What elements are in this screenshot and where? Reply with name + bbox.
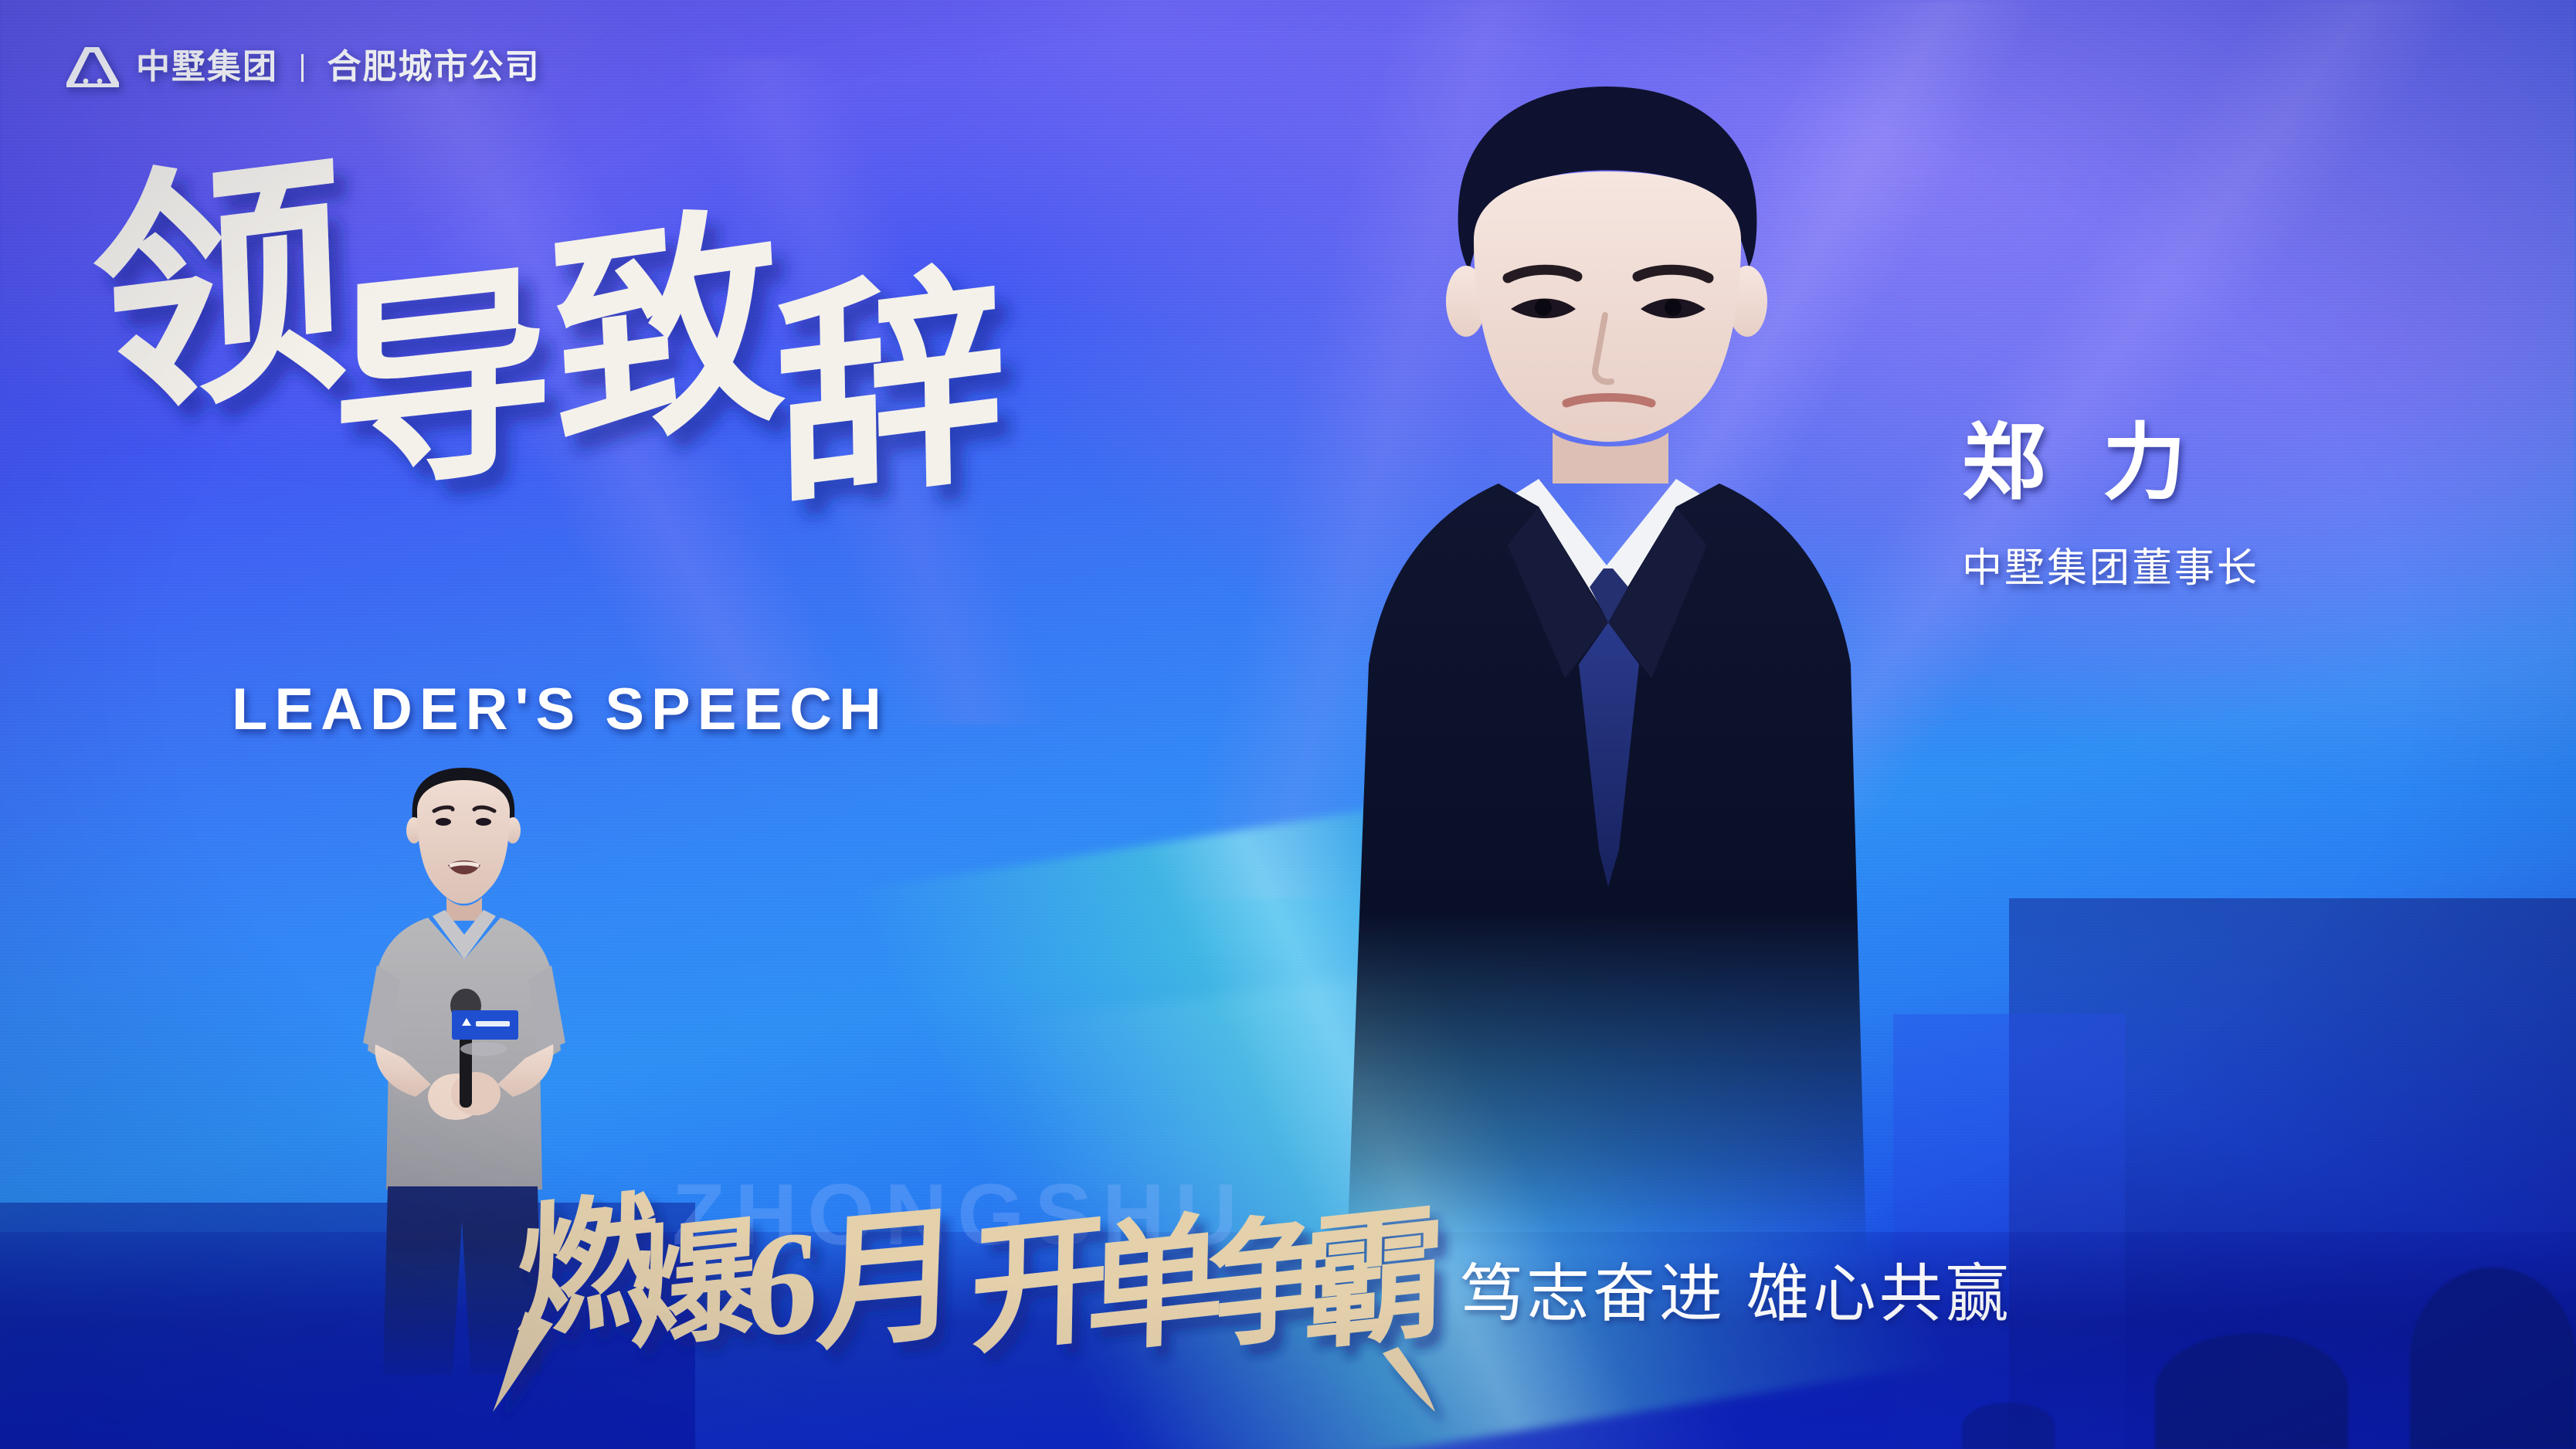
brand-branch: 合肥城市公司 [327, 48, 540, 86]
gold-char-3: 6 [742, 1200, 823, 1369]
presentation-screen: 中墅集团 合肥城市公司 领 导 致 辞 LEADER'S SP [0, 0, 2576, 1449]
gold-char-4: 月 [814, 1193, 965, 1368]
hero-char-1: 领 [88, 134, 351, 449]
brand-logo-text: 中墅集团 合肥城市公司 [136, 50, 540, 84]
audience-silhouette-1 [2155, 1333, 2348, 1449]
speaker-identity: 郑 力 中墅集团董事长 [1962, 417, 2518, 593]
brand-logo: 中墅集团 合肥城市公司 [65, 45, 540, 90]
hero-title-calligraphy: 领 导 致 辞 [116, 158, 1290, 730]
hero-char-4: 辞 [774, 248, 1009, 534]
campaign-slogan-gold: 燃 爆 6 月 开 单 争 霸 [533, 1180, 1444, 1396]
hero-subtitle-en: LEADER'S SPEECH [232, 676, 888, 743]
gold-char-8: 霸 [1302, 1194, 1448, 1369]
chairman-portrait-photo [1267, 46, 1946, 1251]
campaign-slogan-white: 笃志奋进 雄心共赢 [1460, 1242, 2012, 1334]
speaker-title: 中墅集团董事长 [1962, 535, 2518, 593]
hero-char-2: 导 [331, 246, 553, 519]
speaker-name: 郑 力 [1962, 417, 2518, 509]
mountain-peak-icon [65, 45, 120, 90]
audience-silhouette-3 [1962, 1403, 2055, 1449]
audience-silhouette-2 [2410, 1267, 2576, 1449]
brand-divider [301, 54, 304, 82]
brand-company: 中墅集团 [136, 48, 278, 86]
hero-char-3: 致 [545, 189, 789, 479]
